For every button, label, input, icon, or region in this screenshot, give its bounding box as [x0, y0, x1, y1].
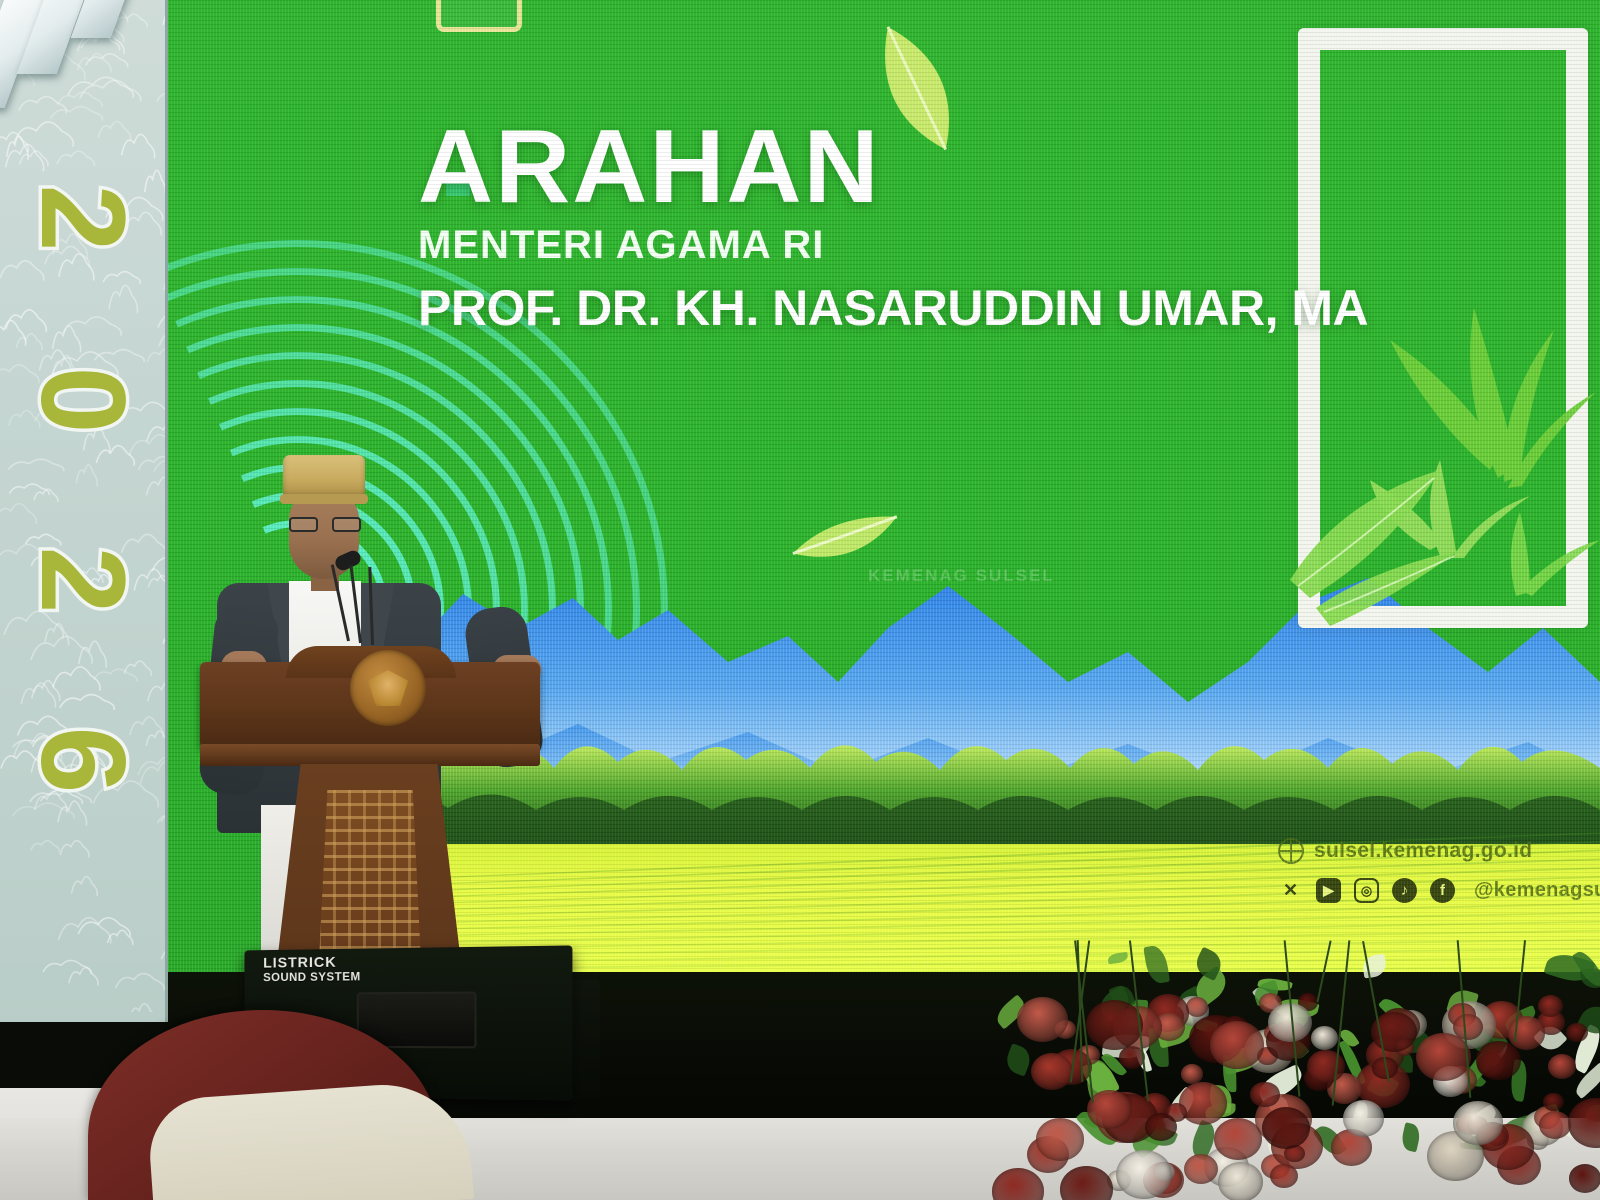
cloud-motif	[98, 121, 130, 140]
arrangement-leaf	[1143, 945, 1170, 986]
cloud-motif	[138, 457, 165, 472]
white-rose	[1453, 1101, 1502, 1145]
white-rose	[1311, 1026, 1338, 1050]
red-rose	[1060, 1166, 1113, 1200]
speaker-brand-line2: SOUND SYSTEM	[263, 970, 361, 983]
cloud-motif	[60, 841, 89, 858]
banner-year-digit-0: 0	[23, 367, 143, 434]
red-rose	[1250, 1082, 1279, 1108]
cloud-motif	[53, 667, 100, 691]
cloud-motif	[59, 254, 94, 281]
speaker-songkok-cap	[283, 455, 365, 499]
cloud-motif	[122, 134, 155, 158]
cloud-pattern-background	[0, 0, 165, 1012]
cloud-motif	[7, 136, 28, 160]
photo-scene: KEMENAG SULSEL	[0, 0, 1600, 1200]
cloud-motif	[31, 841, 60, 852]
garuda-pancasila-emblem	[350, 650, 426, 726]
red-rose	[1307, 1050, 1345, 1083]
cloud-motif	[69, 968, 98, 986]
red-rose	[1476, 1041, 1521, 1080]
cloud-motif	[79, 641, 106, 668]
banner-year-digit-2: 2	[23, 185, 143, 252]
arrangement-leaf	[1107, 951, 1128, 963]
screen-watermark: KEMENAG SULSEL	[868, 566, 1055, 586]
cloud-motif	[4, 611, 63, 638]
cloud-motif	[50, 107, 102, 121]
red-rose	[1566, 1023, 1588, 1042]
cloud-motif	[94, 669, 137, 681]
subtitle-menteri-agama: MENTERI AGAMA RI	[418, 225, 1368, 265]
screen-footer-contacts: sulsel.kemenag.go.id ✕ ▶ ◎ ♪ f @kemenags…	[1278, 838, 1600, 903]
flower-stem	[1316, 940, 1331, 1002]
cloud-motif	[72, 877, 98, 896]
cloud-motif	[60, 695, 115, 710]
globe-icon	[1278, 838, 1304, 864]
red-rose	[1270, 1164, 1298, 1189]
white-rose	[1343, 1100, 1384, 1136]
red-rose	[1086, 1000, 1143, 1050]
cloud-motif	[16, 334, 42, 350]
red-rose	[1087, 1090, 1132, 1129]
screen-text-block: ARAHAN MENTERI AGAMA RI PROF. DR. KH. NA…	[418, 118, 1368, 333]
arrangement-leaf	[1400, 1122, 1423, 1153]
red-rose	[1568, 1098, 1600, 1147]
cloud-motif	[6, 144, 44, 171]
social-icon-row: ✕ ▶ ◎ ♪ f @kemenagsulsel	[1278, 878, 1600, 903]
roman-numeral-graphic	[0, 0, 168, 94]
banner-year-digit-6: 6	[23, 727, 143, 794]
cloud-motif	[57, 92, 102, 107]
red-rose	[1538, 995, 1563, 1017]
cloud-motif	[53, 326, 81, 353]
cloud-motif	[26, 534, 61, 545]
cloud-motif	[57, 151, 94, 166]
cloud-motif	[12, 803, 74, 818]
cloud-motif	[109, 285, 138, 313]
cloud-motif	[129, 1004, 155, 1012]
cloud-motif	[0, 504, 36, 524]
speaker-brand-label: LISTRICK SOUND SYSTEM	[263, 955, 361, 984]
cloud-motif	[146, 477, 165, 498]
x-twitter-icon: ✕	[1278, 878, 1303, 903]
cloud-motif	[34, 489, 58, 502]
red-rose	[1179, 1082, 1228, 1125]
cloud-motif	[58, 918, 110, 944]
cloud-motif	[21, 683, 55, 708]
speaker-name-text: PROF. DR. KH. NASARUDDIN UMAR, MA	[418, 283, 1368, 333]
cloud-motif	[76, 465, 97, 487]
left-vertical-banner: 2 0 2 6	[0, 0, 168, 1030]
cloud-motif	[95, 350, 145, 362]
red-rose	[1031, 1053, 1073, 1090]
podium-ledge	[200, 744, 540, 766]
youtube-icon: ▶	[1316, 878, 1341, 903]
cloud-motif	[147, 349, 165, 364]
cloud-motif	[158, 308, 165, 330]
microphone-stem-2	[350, 565, 362, 643]
red-rose	[1210, 1021, 1264, 1069]
red-rose	[1543, 1093, 1564, 1111]
red-rose	[1184, 1154, 1218, 1184]
cloud-motif	[154, 456, 165, 474]
cloud-motif	[115, 974, 164, 991]
flower-arrangement	[990, 940, 1600, 1200]
cloud-motif	[8, 459, 63, 471]
cloud-motif	[63, 317, 121, 336]
red-rose	[1214, 1118, 1262, 1160]
red-rose	[1036, 1118, 1084, 1161]
red-rose	[992, 1168, 1045, 1200]
red-rose	[1548, 1054, 1576, 1079]
red-rose	[1508, 1016, 1546, 1049]
social-handle-text: @kemenagsulsel	[1474, 879, 1600, 902]
speaking-podium	[200, 648, 540, 988]
white-rose	[1116, 1150, 1172, 1199]
headline-arahan: ARAHAN	[418, 118, 1368, 217]
cloud-motif	[32, 681, 60, 701]
red-rose	[1569, 1164, 1600, 1193]
eyeglasses-icon	[289, 517, 361, 532]
cloud-motif	[78, 918, 130, 937]
kemenag-logo-cropped	[436, 0, 522, 32]
red-rose	[1539, 1111, 1571, 1139]
white-rose	[1218, 1162, 1263, 1200]
facebook-icon: f	[1430, 878, 1455, 903]
instagram-icon: ◎	[1354, 878, 1379, 903]
microphone-stem-3	[368, 567, 374, 645]
arrangement-leaf	[1003, 1043, 1034, 1076]
cloud-motif	[0, 321, 26, 346]
red-rose	[1181, 1064, 1204, 1084]
cloud-motif	[96, 446, 134, 466]
website-row: sulsel.kemenag.go.id	[1278, 838, 1600, 864]
cloud-motif	[103, 272, 140, 284]
red-rose	[1416, 1033, 1470, 1081]
banner-year-digit-2b: 2	[23, 547, 143, 614]
cloud-motif	[159, 330, 165, 349]
tiktok-icon: ♪	[1392, 878, 1417, 903]
website-url: sulsel.kemenag.go.id	[1314, 839, 1532, 863]
cloud-motif	[0, 261, 43, 281]
cloud-motif	[148, 681, 165, 705]
cloud-motif	[164, 269, 165, 293]
monstera-leaf-decoration	[1270, 430, 1470, 640]
cloud-motif	[163, 631, 165, 646]
cloud-motif	[161, 939, 165, 963]
cloud-motif	[43, 960, 91, 973]
red-rose	[1017, 997, 1068, 1042]
